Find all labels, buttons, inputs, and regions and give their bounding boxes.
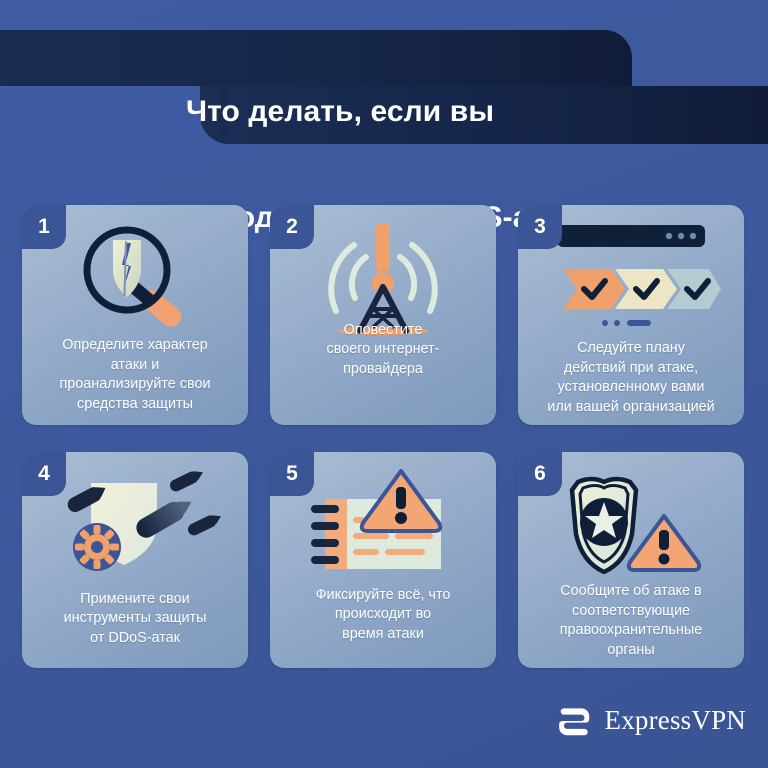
step-caption: Следуйте плану действий при атаке, устан… <box>524 339 738 417</box>
header: Что делать, если вы подверглись DDoS-ата… <box>0 0 768 180</box>
step-card-1[interactable]: 1 <box>22 205 248 425</box>
step-number-badge: 4 <box>22 452 66 496</box>
step-number-badge: 2 <box>270 205 314 249</box>
step-card-2[interactable]: 2 Оповес <box>270 205 496 425</box>
step-caption: Определите характер атаки и проанализиру… <box>28 336 242 414</box>
step-card-6[interactable]: 6 <box>518 452 744 668</box>
step-card-5[interactable]: 5 <box>270 452 496 668</box>
steps-grid: 1 <box>22 205 746 668</box>
expressvpn-e-logo-icon <box>556 702 594 740</box>
step-caption: Сообщите об атаке в соответствующие прав… <box>524 582 738 660</box>
step-number-badge: 1 <box>22 205 66 249</box>
step-number-badge: 3 <box>518 205 562 249</box>
step-number-badge: 6 <box>518 452 562 496</box>
step-caption: Примените свои инструменты защиты от DDo… <box>28 590 242 649</box>
infographic-root: Что делать, если вы подверглись DDoS-ата… <box>0 0 768 768</box>
step-caption: Фиксируйте всё, что происходит во время … <box>276 586 490 645</box>
step-card-4[interactable]: 4 <box>22 452 248 668</box>
step-card-3[interactable]: 3 <box>518 205 744 425</box>
page-title-line-1: Что делать, если вы <box>40 85 724 138</box>
step-caption: Оповестите своего интернет- провайдера <box>276 321 490 380</box>
expressvpn-logo[interactable]: ExpressVPN <box>556 702 747 740</box>
expressvpn-wordmark: ExpressVPN <box>605 707 747 736</box>
step-number-badge: 5 <box>270 452 314 496</box>
